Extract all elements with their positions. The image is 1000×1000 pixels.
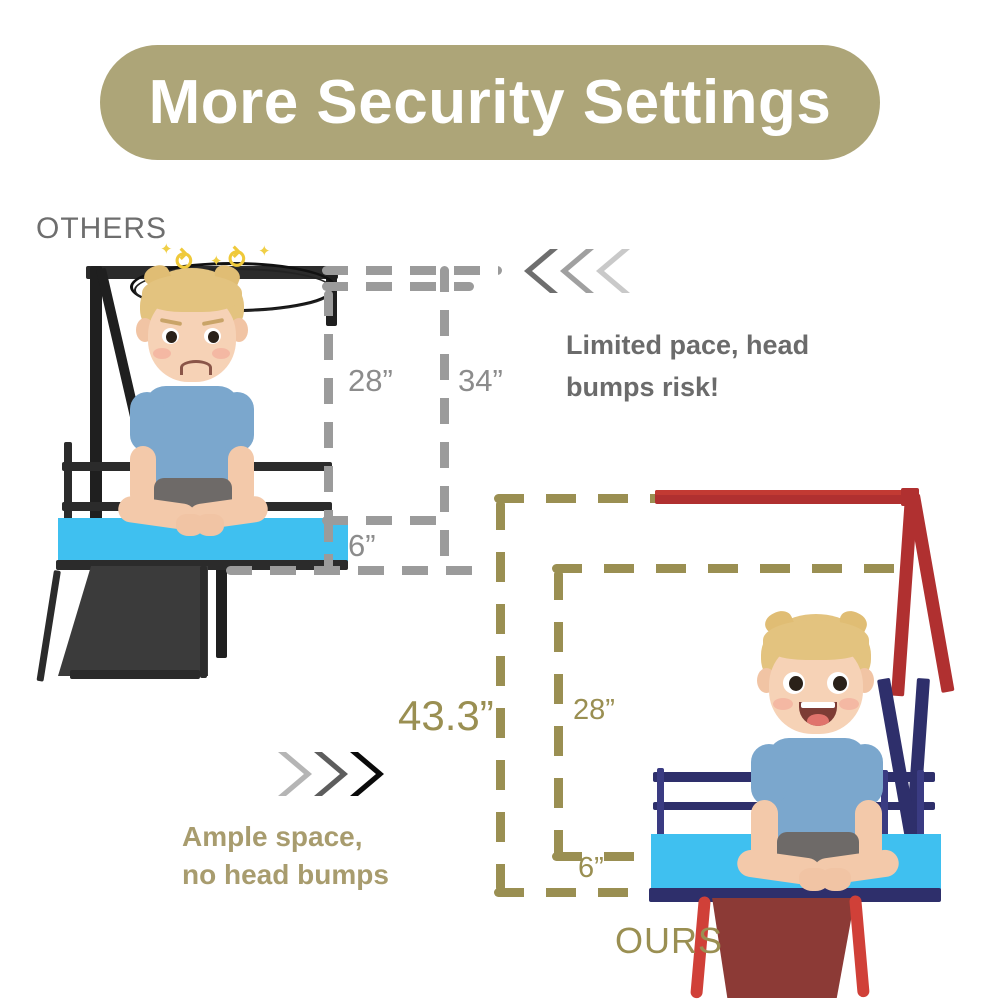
- chevron-left-icon-light: [592, 245, 636, 297]
- sad-child-sleeve-left: [130, 392, 164, 452]
- others-playset-illustration: ⥁ ⥁ ✦ ✦ ✦ ✦: [30, 240, 350, 670]
- happy-child-pupil-left: [789, 676, 803, 691]
- sad-child-pupil-left: [166, 331, 177, 343]
- others-dim-top-line-a: [322, 266, 502, 275]
- others-base-foot: [70, 670, 200, 679]
- happy-child-fringe: [763, 620, 869, 660]
- sad-child-fringe: [142, 274, 242, 312]
- ours-rail-height-dimension: 6”: [578, 852, 604, 885]
- sad-child-pupil-right: [208, 331, 219, 343]
- happy-child-pupil-right: [833, 676, 847, 691]
- others-rail-height-dimension: 6”: [348, 528, 376, 564]
- happy-child-figure: [743, 614, 913, 914]
- others-dim-mid-line: [322, 516, 440, 525]
- sad-child-cheek-left: [153, 348, 171, 359]
- others-caption: Limited pace, head bumps risk!: [566, 325, 896, 409]
- happy-child-cheek-right: [839, 698, 859, 710]
- others-slide-rail-right: [200, 566, 207, 678]
- others-dim-6-vline: [324, 516, 333, 572]
- ours-label: OURS: [615, 920, 723, 962]
- sad-child-figure: [122, 264, 282, 564]
- ours-caption-line-2: no head bumps: [182, 856, 512, 894]
- happy-child-teeth: [801, 702, 835, 708]
- ours-dim-28-vline: [554, 570, 563, 862]
- happy-child-tongue: [807, 714, 829, 726]
- others-dim-bottom-line: [226, 566, 476, 575]
- others-slide-rail-left: [36, 570, 60, 682]
- title-banner: More Security Settings: [100, 45, 880, 160]
- sparkle-star-icon-3: ✦: [258, 242, 271, 260]
- page-title: More Security Settings: [149, 67, 832, 138]
- sad-child-sleeve-right: [220, 392, 254, 452]
- happy-child-sleeve-left: [751, 744, 787, 806]
- sad-child-foot-right: [196, 514, 224, 536]
- happy-child-cheek-left: [773, 698, 793, 710]
- ours-leg-back: [907, 494, 955, 693]
- sad-child-cheek-right: [212, 348, 230, 359]
- others-headroom-dimension: 28”: [348, 363, 393, 399]
- sad-child-mouth: [180, 360, 212, 375]
- sparkle-star-icon-1: ✦: [160, 240, 173, 258]
- ours-caption: Ample space, no head bumps: [182, 818, 512, 894]
- others-slide-surface: [58, 566, 208, 676]
- others-dim-top-line-b: [322, 282, 474, 291]
- ours-total-height-dimension: 43.3”: [398, 692, 494, 740]
- others-dim-34-vline: [440, 266, 449, 572]
- ours-headroom-dimension: 28”: [573, 694, 615, 727]
- happy-child-foot-right: [821, 868, 851, 891]
- others-caption-line-1: Limited pace, head: [566, 325, 896, 367]
- ours-corner-bracket: [901, 488, 919, 506]
- ours-playset-illustration: [655, 482, 1000, 942]
- others-chevron-group: [520, 245, 636, 297]
- chevron-right-icon-dark: [344, 748, 388, 800]
- ours-caption-line-1: Ample space,: [182, 818, 512, 856]
- others-total-height-dimension: 34”: [458, 363, 503, 399]
- ours-top-beam-highlight: [655, 490, 917, 495]
- ours-chevron-group: [272, 748, 388, 800]
- others-caption-line-2: bumps risk!: [566, 367, 896, 409]
- infographic-canvas: More Security Settings OTHERS ⥁ ⥁ ✦ ✦ ✦: [0, 0, 1000, 1000]
- happy-child-sleeve-right: [847, 744, 883, 806]
